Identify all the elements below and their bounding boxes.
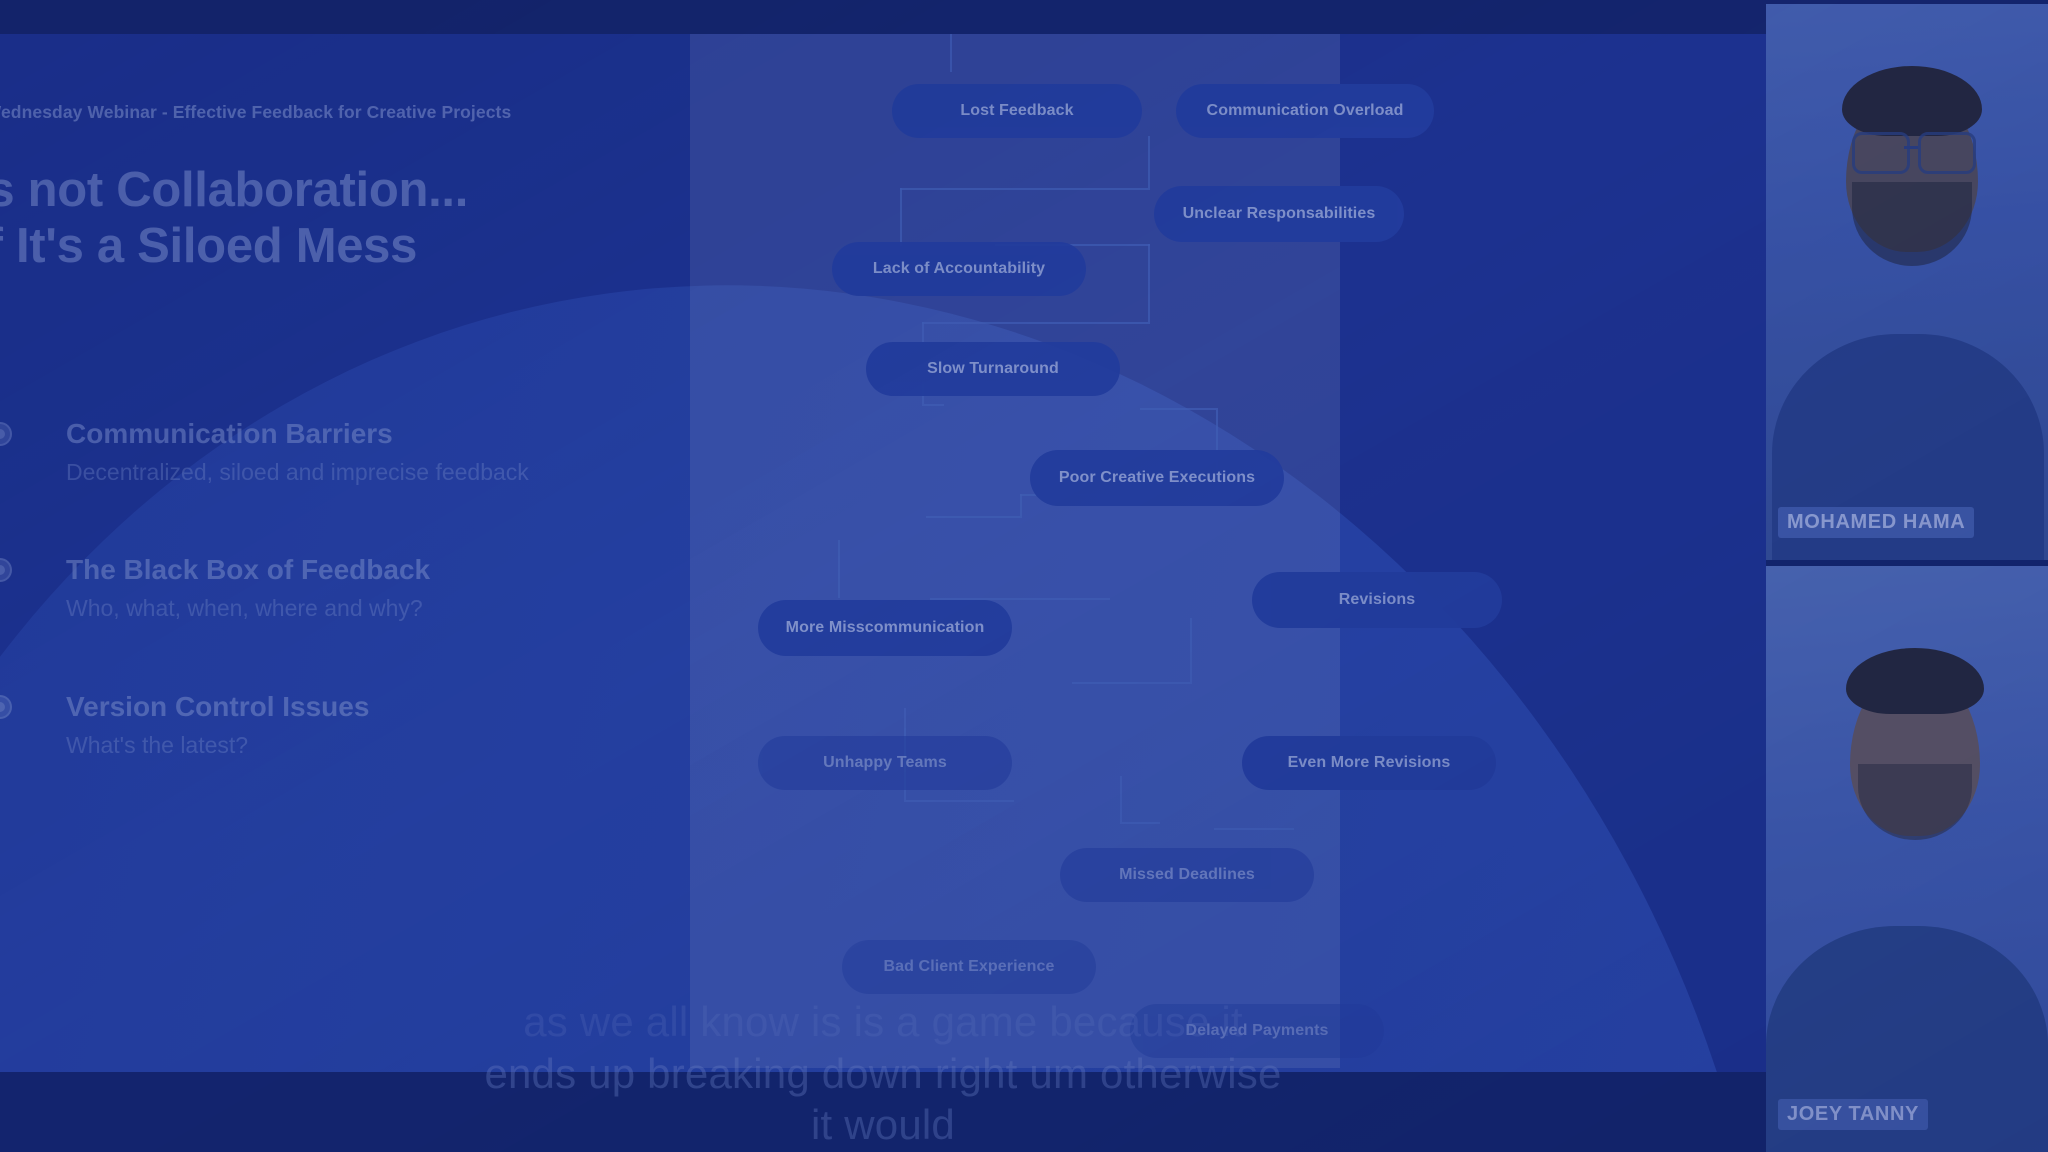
bullet-subtitle: Who, what, when, where and why?	[66, 593, 566, 624]
headline-line-2: .If It's a Siloed Mess	[0, 218, 720, 274]
bullet-subtitle: Decentralized, siloed and imprecise feed…	[66, 457, 566, 488]
flowchart-node[interactable]: Bad Client Experience	[842, 940, 1096, 994]
participant-video-2	[1766, 566, 2048, 1152]
slide-headline: t's not Collaboration... .If It's a Silo…	[0, 162, 720, 275]
bullet-dot-icon	[0, 558, 12, 582]
avatar	[1858, 764, 1972, 840]
bullet-dot-icon	[0, 695, 12, 719]
flowchart-edge	[1120, 776, 1122, 822]
flowchart-node[interactable]: Communication Overload	[1176, 84, 1434, 138]
flowchart-node[interactable]: Unhappy Teams	[758, 736, 1012, 790]
slide-eyebrow: rd Wednesday Webinar - Effective Feedbac…	[0, 102, 582, 123]
flowchart-edge	[1190, 618, 1192, 682]
bullet-subtitle: What's the latest?	[66, 730, 566, 761]
flowchart-edge	[904, 800, 1014, 802]
flowchart-node[interactable]: Even More Revisions	[1242, 736, 1496, 790]
flowchart-edge	[922, 322, 1150, 324]
caption-line-3: it would	[811, 1099, 955, 1150]
slide-bullet-list: Communication Barriers Decentralized, si…	[0, 416, 620, 825]
avatar	[1846, 648, 1984, 714]
participant-name-1: MOHAMED HAMA	[1778, 507, 1974, 538]
flowchart-edge	[1214, 828, 1294, 830]
avatar	[1852, 182, 1972, 266]
flowchart-canvas: Lost Feedback Communication Overload Unc…	[690, 34, 1340, 1068]
flowchart-edge	[950, 34, 952, 72]
flowchart-edge	[838, 540, 840, 598]
flowchart-node[interactable]: Revisions	[1252, 572, 1502, 628]
flowchart-node[interactable]: Poor Creative Executions	[1030, 450, 1284, 506]
flowchart-edge	[1148, 136, 1150, 188]
presentation-slide: rd Wednesday Webinar - Effective Feedbac…	[0, 34, 1766, 1072]
participant-tile-1[interactable]: MOHAMED HAMA	[1766, 4, 2048, 560]
avatar	[1842, 66, 1982, 136]
glasses-icon	[1918, 132, 1976, 174]
flowchart-edge	[1140, 408, 1216, 410]
bullet-item: Version Control Issues What's the latest…	[0, 689, 620, 761]
participant-name-2: JOEY TANNY	[1778, 1099, 1928, 1130]
shared-screen-tile[interactable]: rd Wednesday Webinar - Effective Feedbac…	[0, 34, 1766, 1072]
flowchart-node[interactable]: Missed Deadlines	[1060, 848, 1314, 902]
participant-video-1	[1766, 4, 2048, 560]
flowchart-edge	[900, 188, 1150, 190]
bullet-item: Communication Barriers Decentralized, si…	[0, 416, 620, 488]
flowchart-edge	[1148, 244, 1150, 322]
bullet-title: Communication Barriers	[66, 416, 620, 451]
flowchart-edge	[1120, 822, 1160, 824]
glasses-icon	[1852, 132, 1910, 174]
participant-strip: MOHAMED HAMA JOEY TANNY	[1766, 0, 2048, 1152]
bullet-item: The Black Box of Feedback Who, what, whe…	[0, 552, 620, 624]
bullet-title: Version Control Issues	[66, 689, 620, 724]
flowchart-edge	[900, 188, 902, 246]
flowchart-node[interactable]: Lost Feedback	[892, 84, 1142, 138]
headline-line-1: t's not Collaboration...	[0, 163, 468, 217]
flowchart-edge	[926, 516, 1022, 518]
flowchart-edge	[1020, 494, 1022, 516]
flowchart-node[interactable]: More Misscommunication	[758, 600, 1012, 656]
participant-tile-2[interactable]: JOEY TANNY	[1766, 566, 2048, 1152]
flowchart-node[interactable]: Delayed Payments	[1130, 1004, 1384, 1058]
flowchart-node[interactable]: Unclear Responsabilities	[1154, 186, 1404, 242]
avatar	[1904, 146, 1918, 149]
flowchart-edge	[1072, 682, 1192, 684]
bullet-title: The Black Box of Feedback	[66, 552, 620, 587]
flowchart-node[interactable]: Lack of Accountability	[832, 242, 1086, 296]
flowchart-panel: Lost Feedback Communication Overload Unc…	[690, 34, 1340, 1068]
video-call-stage: rd Wednesday Webinar - Effective Feedbac…	[0, 0, 2048, 1152]
top-bar	[0, 0, 2048, 34]
bullet-dot-icon	[0, 422, 12, 446]
flowchart-node[interactable]: Slow Turnaround	[866, 342, 1120, 396]
flowchart-edge	[922, 404, 944, 406]
